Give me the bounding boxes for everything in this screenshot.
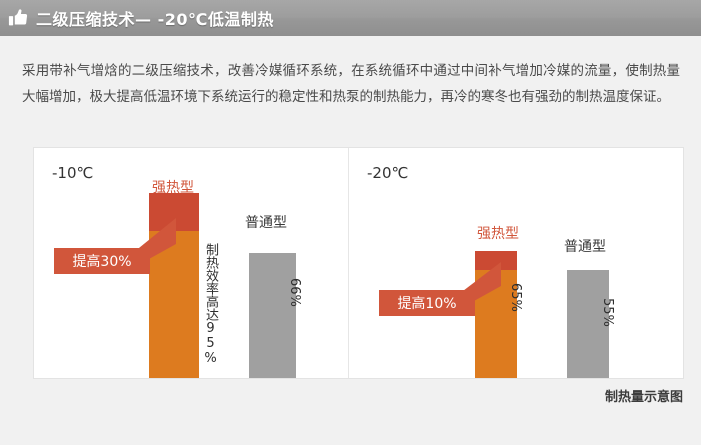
bar-normal-minus10 <box>249 253 296 378</box>
chart-panel-minus20: -20℃ 强热型 65% 普通型 55% 提高10% <box>349 148 684 378</box>
thumbs-up-icon <box>8 7 30 29</box>
bar-value-normal-minus10: 66% <box>287 278 302 307</box>
chart-caption: 制热量示意图 <box>605 386 683 405</box>
page-header: 二级压缩技术— -20℃低温制热 <box>0 0 701 36</box>
page-title: 二级压缩技术— -20℃低温制热 <box>36 6 274 30</box>
intro-paragraph: 采用带补气增焓的二级压缩技术，改善冷媒循环系统，在系统循环中通过中间补气增加冷媒… <box>22 58 680 110</box>
bar-value-strong-minus10: 制热效率高达95% <box>201 243 220 366</box>
bar-value-normal-minus20: 55% <box>600 298 615 327</box>
chart-card: -10℃ 强热型 制热效率高达95% 普通型 66% 提高30% -20℃ 强热… <box>33 147 684 379</box>
callout-badge-minus10: 提高30% <box>54 248 150 274</box>
condition-label-minus10: -10℃ <box>52 164 93 182</box>
series-name-strong-minus20: 强热型 <box>477 223 519 243</box>
callout-badge-minus20: 提高10% <box>379 290 475 316</box>
chart-panel-minus10: -10℃ 强热型 制热效率高达95% 普通型 66% 提高30% <box>34 148 348 378</box>
series-name-normal-minus10: 普通型 <box>245 212 287 232</box>
series-name-normal-minus20: 普通型 <box>564 236 606 256</box>
condition-label-minus20: -20℃ <box>367 164 408 182</box>
bar-value-strong-minus20: 65% <box>508 283 523 312</box>
